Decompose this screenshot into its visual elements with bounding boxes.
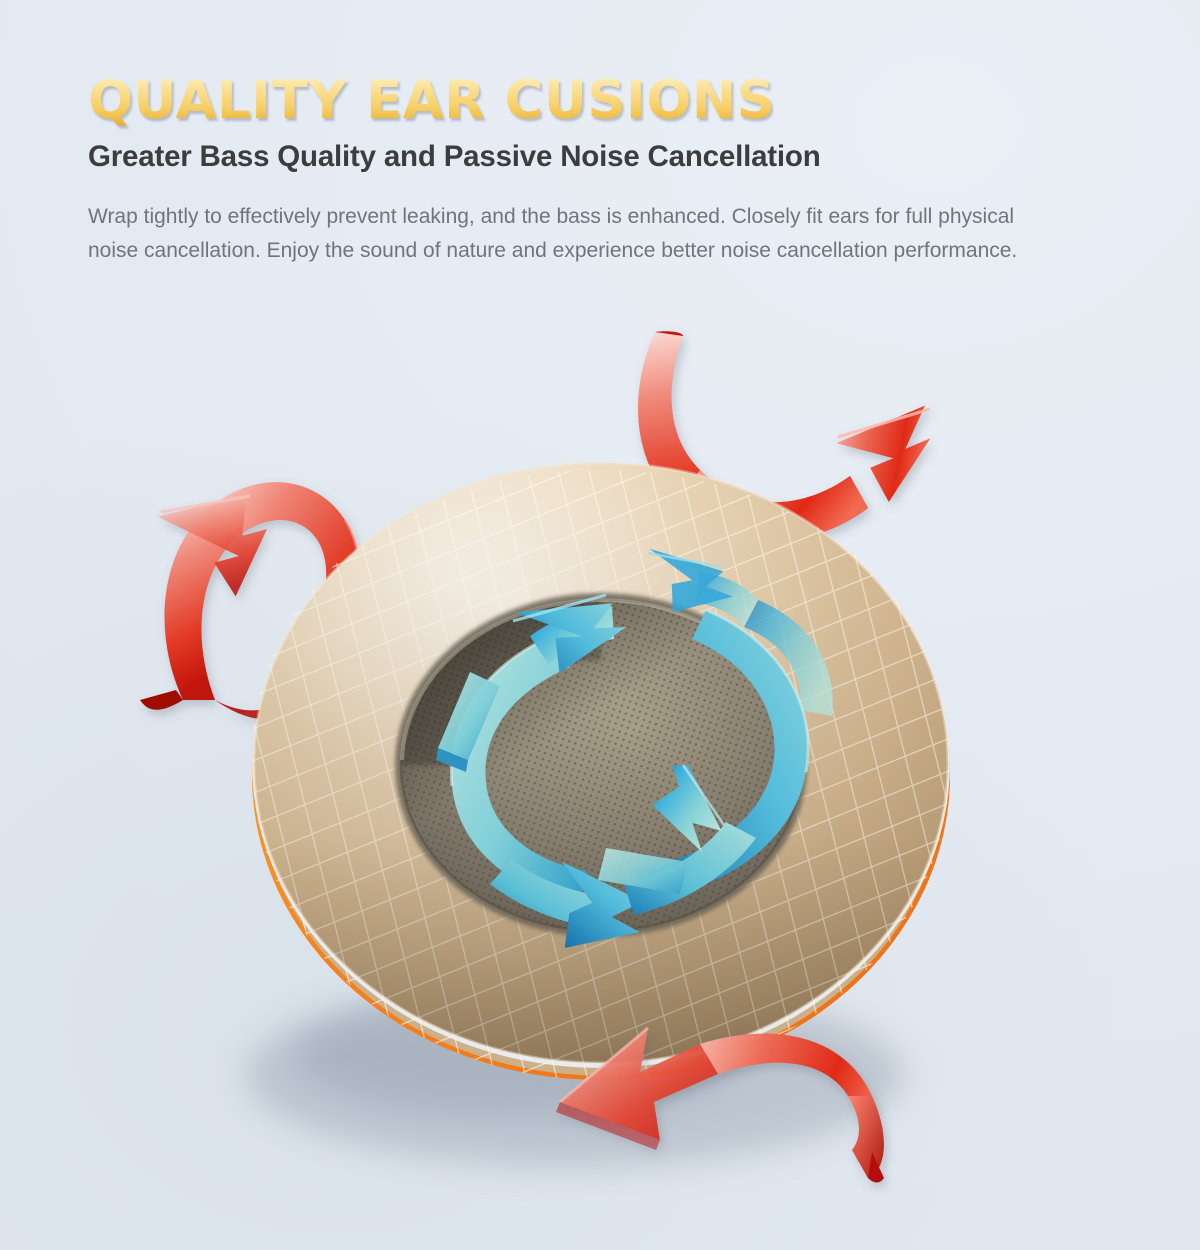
- page-title: QUALITY EAR CUSIONS: [88, 74, 1088, 128]
- page-subtitle: Greater Bass Quality and Passive Noise C…: [88, 140, 1088, 174]
- text-block: QUALITY EAR CUSIONS Greater Bass Quality…: [88, 74, 1088, 268]
- description-paragraph: Wrap tightly to effectively prevent leak…: [88, 200, 1023, 268]
- promo-banner: QUALITY EAR CUSIONS Greater Bass Quality…: [0, 0, 1200, 1250]
